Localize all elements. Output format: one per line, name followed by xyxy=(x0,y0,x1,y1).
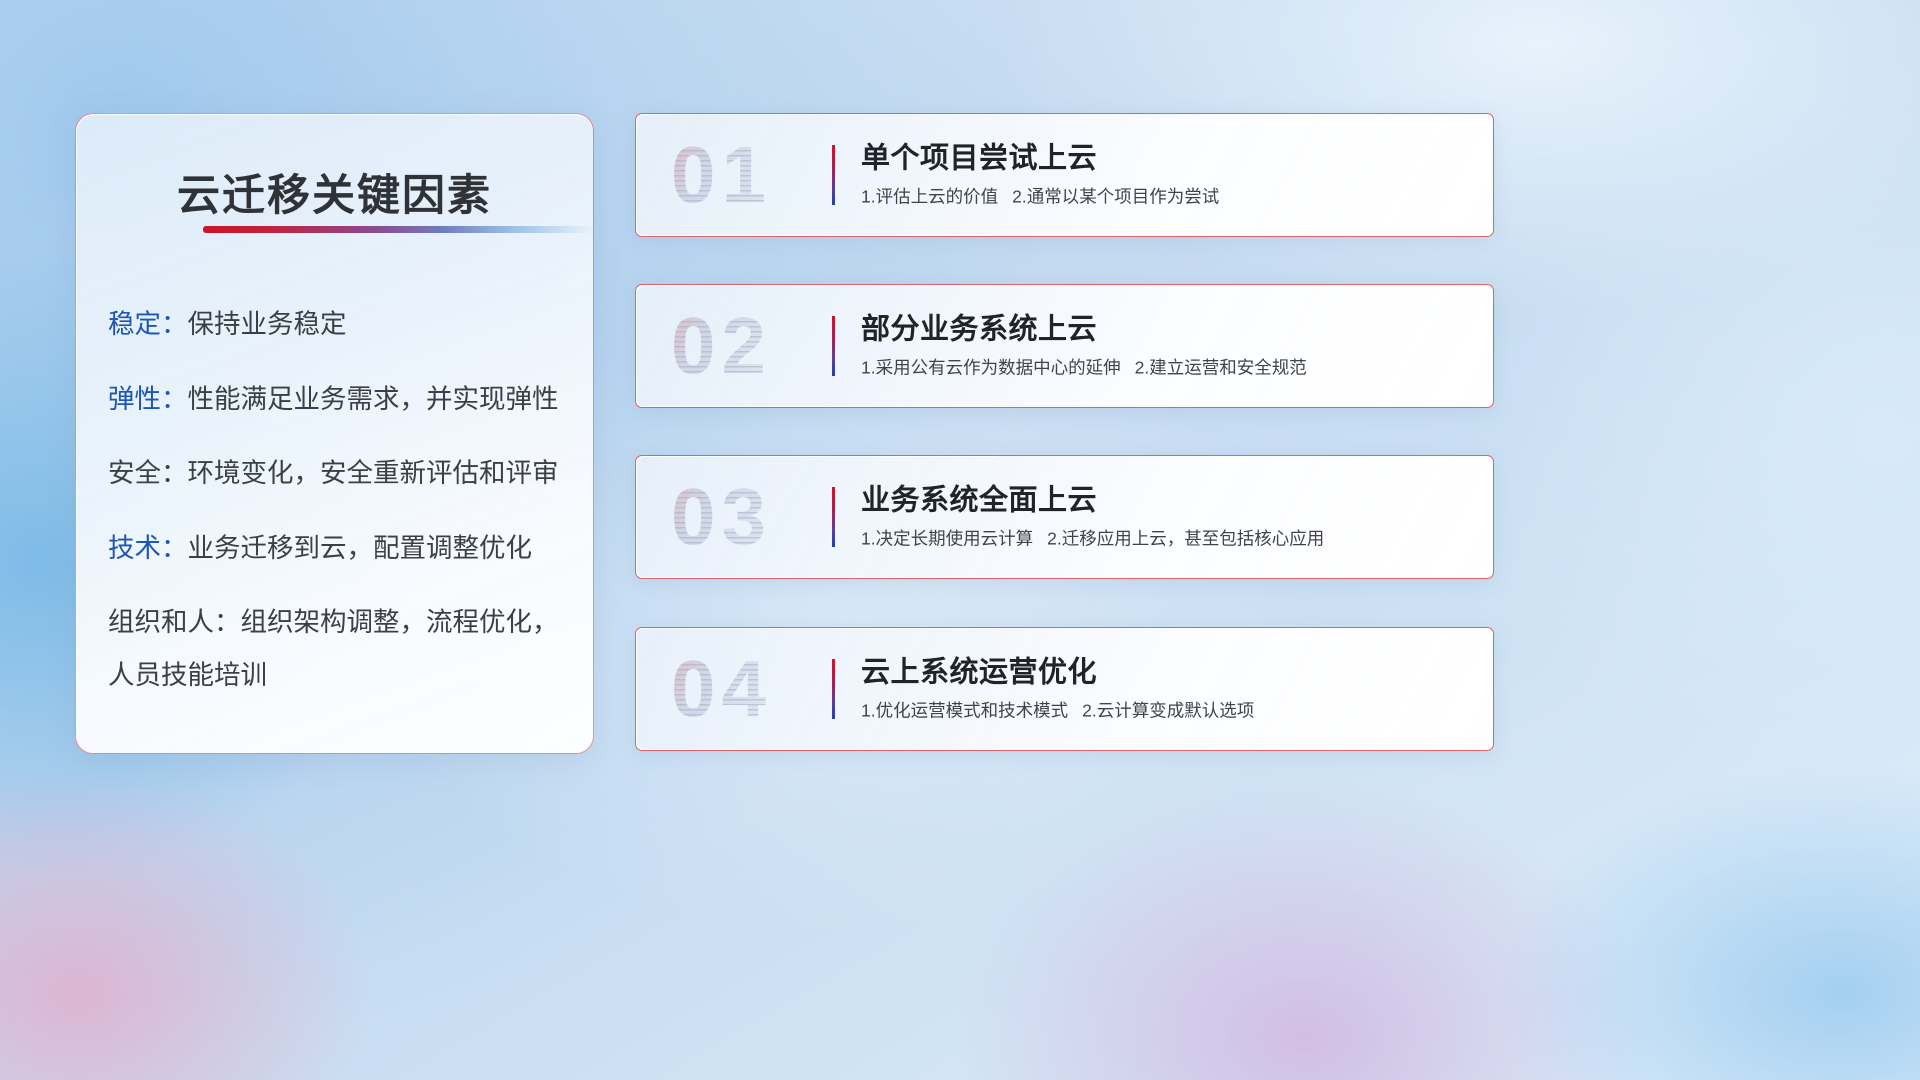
step-point-04-2: 2.云计算变成默认选项 xyxy=(1082,701,1254,721)
key-factors-list: 稳定：保持业务稳定 弹性：性能满足业务需求，并实现弹性 安全：环境变化，安全重新… xyxy=(108,311,573,688)
factor-item-stability: 稳定：保持业务稳定 xyxy=(108,311,573,338)
step-card-01-text: 单个项目尝试上云 1.评估上云的价值2.通常以某个项目作为尝试 xyxy=(861,143,1219,208)
factor-item-security: 安全：环境变化，安全重新评估和评审 xyxy=(108,460,573,487)
step-number-02: 02 xyxy=(671,306,772,386)
step-card-01[interactable]: 01 单个项目尝试上云 1.评估上云的价值2.通常以某个项目作为尝试 xyxy=(635,113,1494,237)
factor-item-organization: 组织和人：组织架构调整，流程优化， xyxy=(108,609,573,636)
factor-label-stability: 稳定： xyxy=(108,309,188,339)
factor-label-technology: 技术： xyxy=(108,533,188,563)
step-title-01: 单个项目尝试上云 xyxy=(861,143,1219,175)
step-points-01: 1.评估上云的价值2.通常以某个项目作为尝试 xyxy=(861,188,1219,207)
accent-bar-04 xyxy=(832,659,835,719)
page-title: 云迁移关键因素 xyxy=(76,161,593,223)
key-factors-panel: 云迁移关键因素 稳定：保持业务稳定 弹性：性能满足业务需求，并实现弹性 安全：环… xyxy=(75,113,594,754)
step-number-03: 03 xyxy=(671,477,772,557)
step-card-03[interactable]: 03 业务系统全面上云 1.决定长期使用云计算2.迁移应用上云，甚至包括核心应用 xyxy=(635,455,1494,579)
accent-bar-01 xyxy=(832,145,835,205)
step-card-03-text: 业务系统全面上云 1.决定长期使用云计算2.迁移应用上云，甚至包括核心应用 xyxy=(861,485,1324,550)
factor-label-security: 安全： xyxy=(108,458,188,488)
step-point-01-1: 1.评估上云的价值 xyxy=(861,187,998,207)
step-point-01-2: 2.通常以某个项目作为尝试 xyxy=(1012,187,1219,207)
step-point-04-1: 1.优化运营模式和技术模式 xyxy=(861,701,1068,721)
accent-bar-02 xyxy=(832,316,835,376)
accent-bar-03 xyxy=(832,487,835,547)
title-underline-gradient xyxy=(203,226,593,233)
step-title-02: 部分业务系统上云 xyxy=(861,314,1307,346)
step-point-02-1: 1.采用公有云作为数据中心的延伸 xyxy=(861,358,1121,378)
step-number-04: 04 xyxy=(671,649,772,729)
step-points-03: 1.决定长期使用云计算2.迁移应用上云，甚至包括核心应用 xyxy=(861,530,1324,549)
factor-value-organization-continued: 人员技能培训 xyxy=(108,662,573,689)
factor-value-technology: 业务迁移到云，配置调整优化 xyxy=(188,533,533,563)
factor-value-stability: 保持业务稳定 xyxy=(188,309,347,339)
step-points-02: 1.采用公有云作为数据中心的延伸2.建立运营和安全规范 xyxy=(861,359,1307,378)
factor-value-elasticity: 性能满足业务需求，并实现弹性 xyxy=(188,384,559,414)
factor-value-organization: 组织架构调整，流程优化， xyxy=(241,607,559,637)
step-card-04[interactable]: 04 云上系统运营优化 1.优化运营模式和技术模式2.云计算变成默认选项 xyxy=(635,627,1494,751)
step-point-03-2: 2.迁移应用上云，甚至包括核心应用 xyxy=(1047,529,1324,549)
factor-label-organization: 组织和人： xyxy=(108,607,241,637)
step-point-02-2: 2.建立运营和安全规范 xyxy=(1135,358,1307,378)
step-number-01: 01 xyxy=(671,135,772,215)
factor-value-security: 环境变化，安全重新评估和评审 xyxy=(188,458,559,488)
step-title-04: 云上系统运营优化 xyxy=(861,657,1254,689)
step-card-02-text: 部分业务系统上云 1.采用公有云作为数据中心的延伸2.建立运营和安全规范 xyxy=(861,314,1307,379)
factor-item-elasticity: 弹性：性能满足业务需求，并实现弹性 xyxy=(108,386,573,413)
factor-item-technology: 技术：业务迁移到云，配置调整优化 xyxy=(108,535,573,562)
factor-label-elasticity: 弹性： xyxy=(108,384,188,414)
step-title-03: 业务系统全面上云 xyxy=(861,485,1324,517)
step-point-03-1: 1.决定长期使用云计算 xyxy=(861,529,1033,549)
step-card-02[interactable]: 02 部分业务系统上云 1.采用公有云作为数据中心的延伸2.建立运营和安全规范 xyxy=(635,284,1494,408)
step-card-04-text: 云上系统运营优化 1.优化运营模式和技术模式2.云计算变成默认选项 xyxy=(861,657,1254,722)
step-points-04: 1.优化运营模式和技术模式2.云计算变成默认选项 xyxy=(861,702,1254,721)
